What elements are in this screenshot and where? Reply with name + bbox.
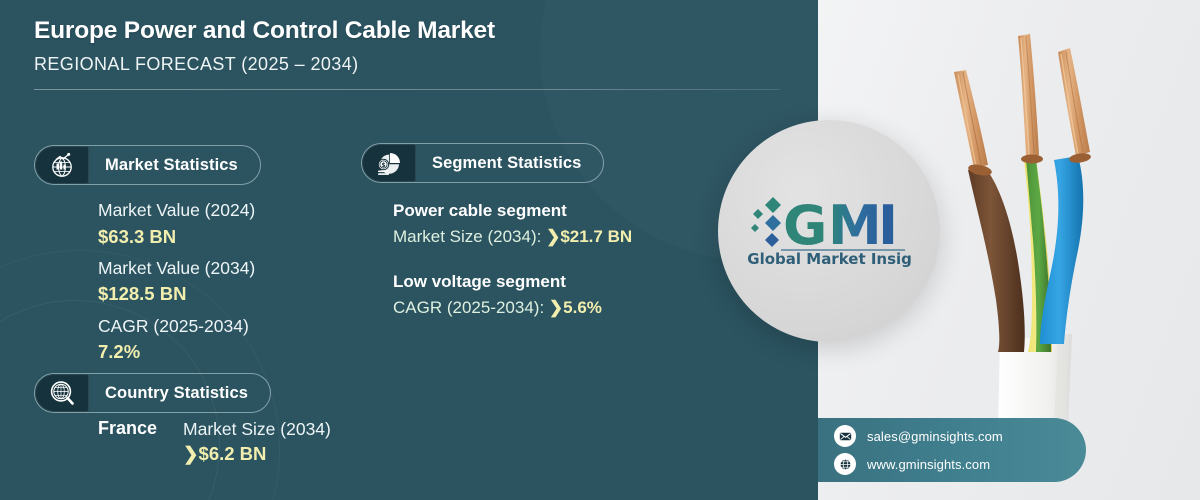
svg-text:M: M — [828, 194, 882, 257]
country-metric-value: ❯$6.2 BN — [183, 442, 331, 467]
page-subtitle: REGIONAL FORECAST (2025 – 2034) — [34, 54, 784, 75]
stat-value: $128.5 BN — [98, 281, 255, 307]
stat-label: Market Value (2024) — [98, 198, 255, 224]
stat-value: $63.3 BN — [98, 224, 255, 250]
svg-text:I: I — [878, 194, 898, 257]
segment-metric-row: CAGR (2025-2034): ❯5.6% — [393, 295, 632, 321]
market-statistics-header: Market Statistics — [34, 145, 261, 185]
segment-metric-value: ❯5.6% — [549, 298, 602, 317]
header-divider — [34, 89, 780, 90]
stat-label: Market Value (2034) — [98, 256, 255, 282]
stat-group: CAGR (2025-2034) 7.2% — [98, 314, 255, 366]
envelope-icon — [834, 425, 856, 447]
segment-metric-label: CAGR (2025-2034): — [393, 298, 544, 317]
cable-photo — [940, 0, 1200, 430]
svg-text:$: $ — [381, 162, 385, 169]
market-statistics-label: Market Statistics — [89, 146, 260, 184]
infographic-root: Europe Power and Control Cable Market RE… — [0, 0, 1200, 500]
header: Europe Power and Control Cable Market RE… — [34, 17, 784, 90]
segment-group: Power cable segment Market Size (2034): … — [393, 198, 632, 249]
globe-bar-chart-icon — [35, 146, 89, 184]
gmi-logo-mark: G M I Global Market Insights — [745, 192, 913, 270]
country-metric-label: Market Size (2034) — [183, 417, 331, 442]
contact-email-row[interactable]: sales@gminsights.com — [834, 425, 1086, 447]
logo-tagline: Global Market Insights — [747, 250, 913, 268]
segment-statistics-header: $ Segment Statistics — [361, 143, 604, 183]
country-statistics-body: France Market Size (2034) ❯$6.2 BN — [98, 417, 331, 467]
country-statistics-header: Country Statistics — [34, 373, 271, 413]
segment-statistics-label: Segment Statistics — [416, 144, 603, 182]
logo-badge: G M I Global Market Insights — [718, 120, 940, 342]
contact-website: www.gminsights.com — [867, 457, 990, 472]
stat-label: CAGR (2025-2034) — [98, 314, 255, 340]
globe-icon — [834, 453, 856, 475]
globe-magnifier-icon — [35, 374, 89, 412]
segment-title: Power cable segment — [393, 198, 632, 224]
logo-content: G M I Global Market Insights — [718, 120, 940, 342]
svg-text:G: G — [783, 194, 827, 257]
segment-title: Low voltage segment — [393, 269, 632, 295]
segment-group: Low voltage segment CAGR (2025-2034): ❯5… — [393, 269, 632, 320]
stat-group: Market Value (2034) $128.5 BN — [98, 256, 255, 308]
stat-group: Market Value (2024) $63.3 BN — [98, 198, 255, 250]
country-value-block: Market Size (2034) ❯$6.2 BN — [183, 417, 331, 467]
segment-metric-value: ❯$21.7 BN — [546, 227, 632, 246]
contact-website-row[interactable]: www.gminsights.com — [834, 453, 1086, 475]
segment-metric-row: Market Size (2034): ❯$21.7 BN — [393, 224, 632, 250]
country-name: France — [98, 417, 157, 467]
segment-metric-label: Market Size (2034): — [393, 227, 541, 246]
pie-chart-dollar-icon: $ — [362, 144, 416, 182]
country-statistics-label: Country Statistics — [89, 374, 270, 412]
contact-bar: sales@gminsights.com www.gminsights.com — [818, 418, 1086, 482]
segment-statistics-body: Power cable segment Market Size (2034): … — [393, 198, 632, 340]
contact-email: sales@gminsights.com — [867, 429, 1003, 444]
stat-value: 7.2% — [98, 339, 255, 365]
market-statistics-body: Market Value (2024) $63.3 BN Market Valu… — [98, 198, 255, 371]
diamond-cluster-icon — [751, 197, 781, 247]
page-title: Europe Power and Control Cable Market — [34, 17, 784, 45]
